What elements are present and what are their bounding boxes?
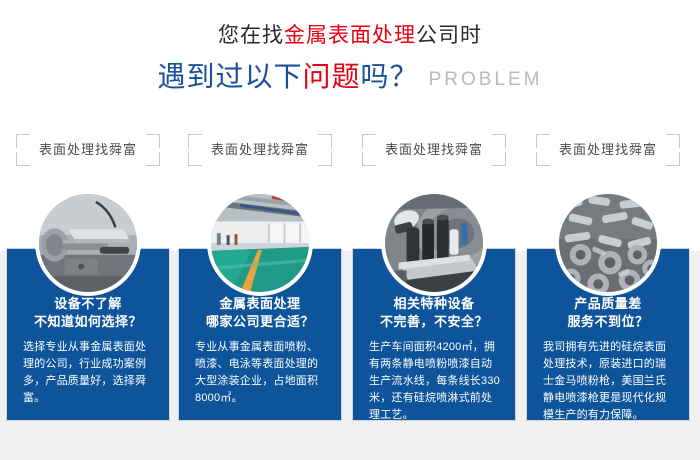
card-title: 设备不了解 不知道如何选择？ [15,295,161,331]
page-root: 您在找金属表面处理公司时 遇到过以下问题吗？PROBLEM 表面处理找舜富 设备… [0,0,700,460]
problem-card[interactable]: 表面处理找舜富 产品质量差 服务不到位？ 我司拥有先进的硅烷表面处理技术，原装进… [523,134,693,434]
problem-card[interactable]: 表面处理找舜富 金属表面处理 哪家公司更合适？ 专业从事金属表面喷粉、喷漆、电泳… [175,134,345,434]
card-tag: 表面处理找舜富 [186,134,334,166]
header-line1-pre: 您在找 [218,24,284,47]
card-body-text: 我司拥有先进的硅烷表面处理技术，原装进口的瑞士金马喷粉枪，美国兰氏静电喷漆枪更是… [543,339,675,424]
problem-card-list: 表面处理找舜富 设备不了解 不知道如何选择？ 选择专业从事金属表面处理的公司，行… [0,134,700,434]
card-tag-label: 表面处理找舜富 [534,140,682,160]
header-line2-pre: 遇到过以下 [158,61,303,92]
card-title: 产品质量差 服务不到位？ [535,295,681,331]
card-tag-label: 表面处理找舜富 [360,140,508,160]
header-subtitle-en: PROBLEM [429,69,543,90]
header-line-2: 遇到过以下问题吗？PROBLEM [0,59,700,98]
card-title-line-2: 不完善，不安全？ [361,313,507,331]
card-body-text: 专业从事金属表面喷粉、喷漆、电泳等表面处理的大型涂装企业，占地面积8000㎡。 [195,339,327,407]
card-body-text: 生产车间面积4200㎡，拥有两条静电喷粉喷漆自动生产流水线，每条线长330米，还… [369,339,501,424]
metal-parts-fixture-photo [381,190,487,296]
card-tag: 表面处理找舜富 [14,134,162,166]
problem-card[interactable]: 表面处理找舜富 相关特种设备 不完善，不安全？ 生产车间面积4200㎡，拥有两条… [349,134,519,434]
card-title-line-1: 设备不了解 [15,295,161,313]
card-title-line-1: 产品质量差 [535,295,681,313]
header-line1-post: 公司时 [416,24,482,47]
card-title-line-1: 金属表面处理 [187,295,333,313]
bolts-fasteners-photo [555,190,661,296]
card-title-line-1: 相关特种设备 [361,295,507,313]
header-line1-highlight: 金属表面处理 [284,24,416,47]
card-title: 金属表面处理 哪家公司更合适？ [187,295,333,331]
page-header: 您在找金属表面处理公司时 遇到过以下问题吗？PROBLEM [0,0,700,98]
problem-card[interactable]: 表面处理找舜富 设备不了解 不知道如何选择？ 选择专业从事金属表面处理的公司，行… [3,134,173,434]
card-title-line-2: 服务不到位？ [535,313,681,331]
header-line2-highlight: 问题 [303,61,361,92]
lathe-machining-photo [35,190,141,296]
factory-workshop-photo [207,190,313,296]
card-tag-label: 表面处理找舜富 [186,140,334,160]
card-body-text: 选择专业从事金属表面处理的公司，行业成功案例多，产品质量好，选择舜富。 [23,339,155,407]
card-title-line-2: 不知道如何选择？ [15,313,161,331]
header-line2-post: 吗？ [361,61,419,92]
card-tag: 表面处理找舜富 [360,134,508,166]
header-line-1: 您在找金属表面处理公司时 [0,22,700,50]
card-tag-label: 表面处理找舜富 [14,140,162,160]
card-title: 相关特种设备 不完善，不安全？ [361,295,507,331]
card-tag: 表面处理找舜富 [534,134,682,166]
card-title-line-2: 哪家公司更合适？ [187,313,333,331]
